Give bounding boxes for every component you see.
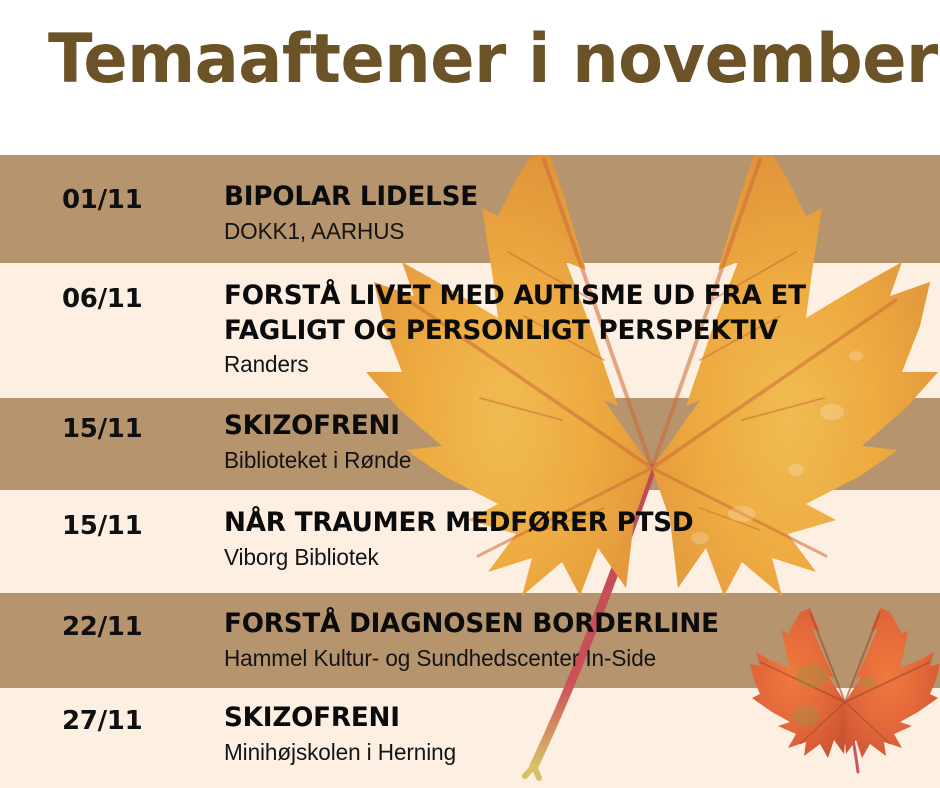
event-date: 22/11	[62, 612, 142, 642]
event-date: 15/11	[62, 414, 142, 444]
event-venue: DOKK1, AARHUS	[224, 217, 910, 246]
event-venue: Viborg Bibliotek	[224, 543, 910, 572]
event-text-block: FORSTÅ DIAGNOSEN BORDERLINE Hammel Kultu…	[224, 607, 924, 672]
event-venue: Hammel Kultur- og Sundhedscenter In-Side	[224, 644, 910, 673]
event-text-block: SKIZOFRENI Minihøjskolen i Herning	[224, 701, 924, 766]
event-date: 06/11	[62, 284, 142, 314]
event-text-block: NÅR TRAUMER MEDFØRER PTSD Viborg Bibliot…	[224, 506, 924, 571]
event-title: NÅR TRAUMER MEDFØRER PTSD	[224, 506, 903, 541]
poster-header: Temaaftener i november	[0, 0, 940, 155]
event-title: SKIZOFRENI	[224, 409, 903, 444]
event-text-block: FORSTÅ LIVET MED AUTISME UD FRA ET FAGLI…	[224, 279, 824, 379]
event-title: SKIZOFRENI	[224, 701, 903, 736]
event-row-3: 15/11 SKIZOFRENI Biblioteket i Rønde	[0, 398, 940, 490]
event-venue: Biblioteket i Rønde	[224, 446, 910, 475]
event-venue: Randers	[224, 350, 812, 379]
event-row-1: 01/11 BIPOLAR LIDELSE DOKK1, AARHUS	[0, 155, 940, 263]
event-title: FORSTÅ DIAGNOSEN BORDERLINE	[224, 607, 903, 642]
event-date: 15/11	[62, 511, 142, 541]
event-row-4: 15/11 NÅR TRAUMER MEDFØRER PTSD Viborg B…	[0, 490, 940, 593]
event-row-2: 06/11 FORSTÅ LIVET MED AUTISME UD FRA ET…	[0, 263, 940, 398]
event-poster: Temaaftener i november 01/11 BIPOLAR LID…	[0, 0, 940, 788]
event-title: FORSTÅ LIVET MED AUTISME UD FRA ET FAGLI…	[224, 279, 806, 348]
event-date: 27/11	[62, 706, 142, 736]
event-row-5: 22/11 FORSTÅ DIAGNOSEN BORDERLINE Hammel…	[0, 593, 940, 688]
event-title: BIPOLAR LIDELSE	[224, 180, 903, 215]
event-date: 01/11	[62, 185, 142, 215]
event-text-block: BIPOLAR LIDELSE DOKK1, AARHUS	[224, 180, 924, 245]
page-title: Temaaftener i november	[48, 26, 938, 94]
event-row-6: 27/11 SKIZOFRENI Minihøjskolen i Herning	[0, 688, 940, 788]
event-venue: Minihøjskolen i Herning	[224, 738, 910, 767]
event-text-block: SKIZOFRENI Biblioteket i Rønde	[224, 409, 924, 474]
